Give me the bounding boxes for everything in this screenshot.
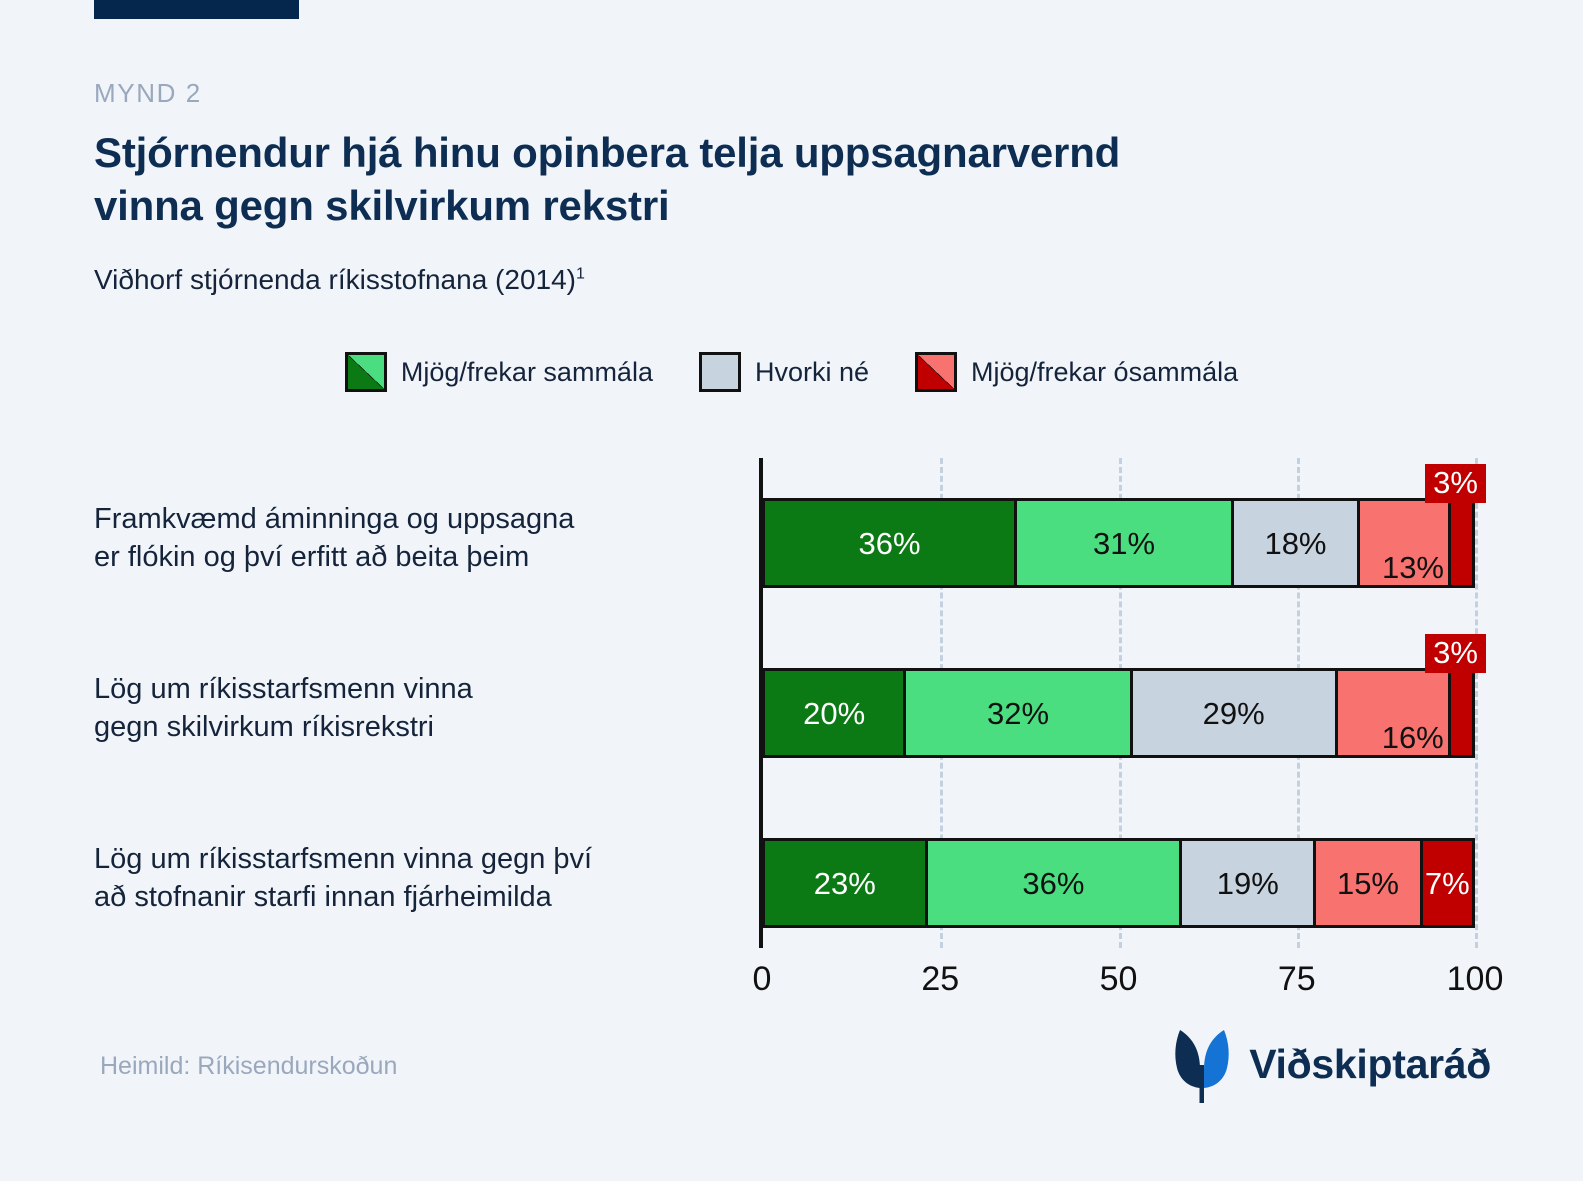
plot-area: 36%31%18%13%3%20%32%29%16%3%23%36%19%15%…	[762, 458, 1475, 948]
x-axis-tick-0: 0	[753, 960, 772, 999]
chart-subtitle: Viðhorf stjórnenda ríkisstofnana (2014)1	[94, 264, 1294, 296]
x-axis-tick-100: 100	[1447, 960, 1504, 999]
bar-segment-1-2[interactable]: 29%	[1133, 671, 1338, 755]
legend-swatch-green-icon	[345, 352, 387, 392]
chart-legend: Mjög/frekar sammála Hvorki né Mjög/freka…	[0, 352, 1583, 392]
brand-logo: Viðskiptaráð	[1169, 1025, 1491, 1103]
bar-segment-0-2[interactable]: 18%	[1234, 501, 1360, 585]
bar-segment-label-0-0: 36%	[858, 528, 920, 559]
bar-segment-2-4[interactable]: 7%	[1423, 841, 1472, 925]
bar-row-0: 36%31%18%13%3%	[762, 498, 1475, 588]
bar-segment-2-2[interactable]: 19%	[1182, 841, 1316, 925]
bar-segment-label-1-2: 29%	[1203, 698, 1265, 729]
bar-segment-0-4[interactable]: 3%	[1451, 501, 1472, 585]
bar-segment-label-1-4: 3%	[1425, 634, 1486, 673]
bar-segment-0-3[interactable]: 13%	[1360, 501, 1451, 585]
brand-logo-text: Viðskiptaráð	[1249, 1041, 1491, 1088]
x-axis-tick-25: 25	[921, 960, 959, 999]
legend-swatch-gray-icon	[699, 352, 741, 392]
legend-label-disagree: Mjög/frekar ósammála	[971, 357, 1238, 388]
legend-item-neutral[interactable]: Hvorki né	[699, 352, 869, 392]
bar-row-2: 23%36%19%15%7%	[762, 838, 1475, 928]
leaf-logo-icon	[1169, 1025, 1235, 1103]
bar-segment-1-4[interactable]: 3%	[1451, 671, 1472, 755]
bar-segment-1-3[interactable]: 16%	[1338, 671, 1451, 755]
bar-segment-label-0-4: 3%	[1425, 464, 1486, 503]
stacked-bar-chart: 36%31%18%13%3%20%32%29%16%3%23%36%19%15%…	[0, 450, 1583, 950]
chart-subtitle-text: Viðhorf stjórnenda ríkisstofnana (2014)	[94, 264, 576, 295]
stacked-bar-1: 20%32%29%16%3%	[762, 668, 1475, 758]
bar-segment-label-2-3: 15%	[1337, 868, 1399, 899]
footnote-marker: 1	[576, 266, 585, 283]
bar-segment-label-1-1: 32%	[987, 698, 1049, 729]
figure-eyebrow: MYND 2	[94, 78, 1294, 109]
source-note: Heimild: Ríkisendurskoðun	[100, 1052, 397, 1081]
x-axis-tick-50: 50	[1100, 960, 1138, 999]
bar-segment-label-2-0: 23%	[814, 868, 876, 899]
bar-segment-1-0[interactable]: 20%	[765, 671, 906, 755]
bar-segment-1-1[interactable]: 32%	[906, 671, 1132, 755]
bar-segment-0-1[interactable]: 31%	[1017, 501, 1234, 585]
bar-segment-0-0[interactable]: 36%	[765, 501, 1017, 585]
bar-segment-2-0[interactable]: 23%	[765, 841, 928, 925]
legend-swatch-red-icon	[915, 352, 957, 392]
bar-segment-label-1-3: 16%	[1382, 722, 1444, 753]
bar-segment-label-0-2: 18%	[1264, 528, 1326, 559]
bar-segment-label-1-0: 20%	[803, 698, 865, 729]
bar-row-1: 20%32%29%16%3%	[762, 668, 1475, 758]
page-title: Stjórnendur hjá hinu opinbera telja upps…	[94, 127, 1294, 232]
legend-label-neutral: Hvorki né	[755, 357, 869, 388]
stacked-bar-2: 23%36%19%15%7%	[762, 838, 1475, 928]
legend-item-agree[interactable]: Mjög/frekar sammála	[345, 352, 653, 392]
x-axis-tick-75: 75	[1278, 960, 1316, 999]
legend-item-disagree[interactable]: Mjög/frekar ósammála	[915, 352, 1238, 392]
page-title-line2: vinna gegn skilvirkum rekstri	[94, 182, 669, 229]
stacked-bar-0: 36%31%18%13%3%	[762, 498, 1475, 588]
top-accent-bar	[94, 0, 299, 19]
bar-segment-label-0-3: 13%	[1382, 552, 1444, 583]
bar-segment-2-1[interactable]: 36%	[928, 841, 1183, 925]
bar-segment-label-2-1: 36%	[1022, 868, 1084, 899]
bar-segment-label-2-4: 7%	[1425, 868, 1470, 899]
bar-segment-label-2-2: 19%	[1217, 868, 1279, 899]
bar-segment-2-3[interactable]: 15%	[1316, 841, 1422, 925]
x-axis: 0255075100	[762, 960, 1475, 1010]
chart-header: MYND 2 Stjórnendur hjá hinu opinbera tel…	[94, 78, 1294, 296]
gridline-100	[1475, 458, 1478, 948]
bar-segment-label-0-1: 31%	[1093, 528, 1155, 559]
page-title-line1: Stjórnendur hjá hinu opinbera telja upps…	[94, 129, 1120, 176]
legend-label-agree: Mjög/frekar sammála	[401, 357, 653, 388]
